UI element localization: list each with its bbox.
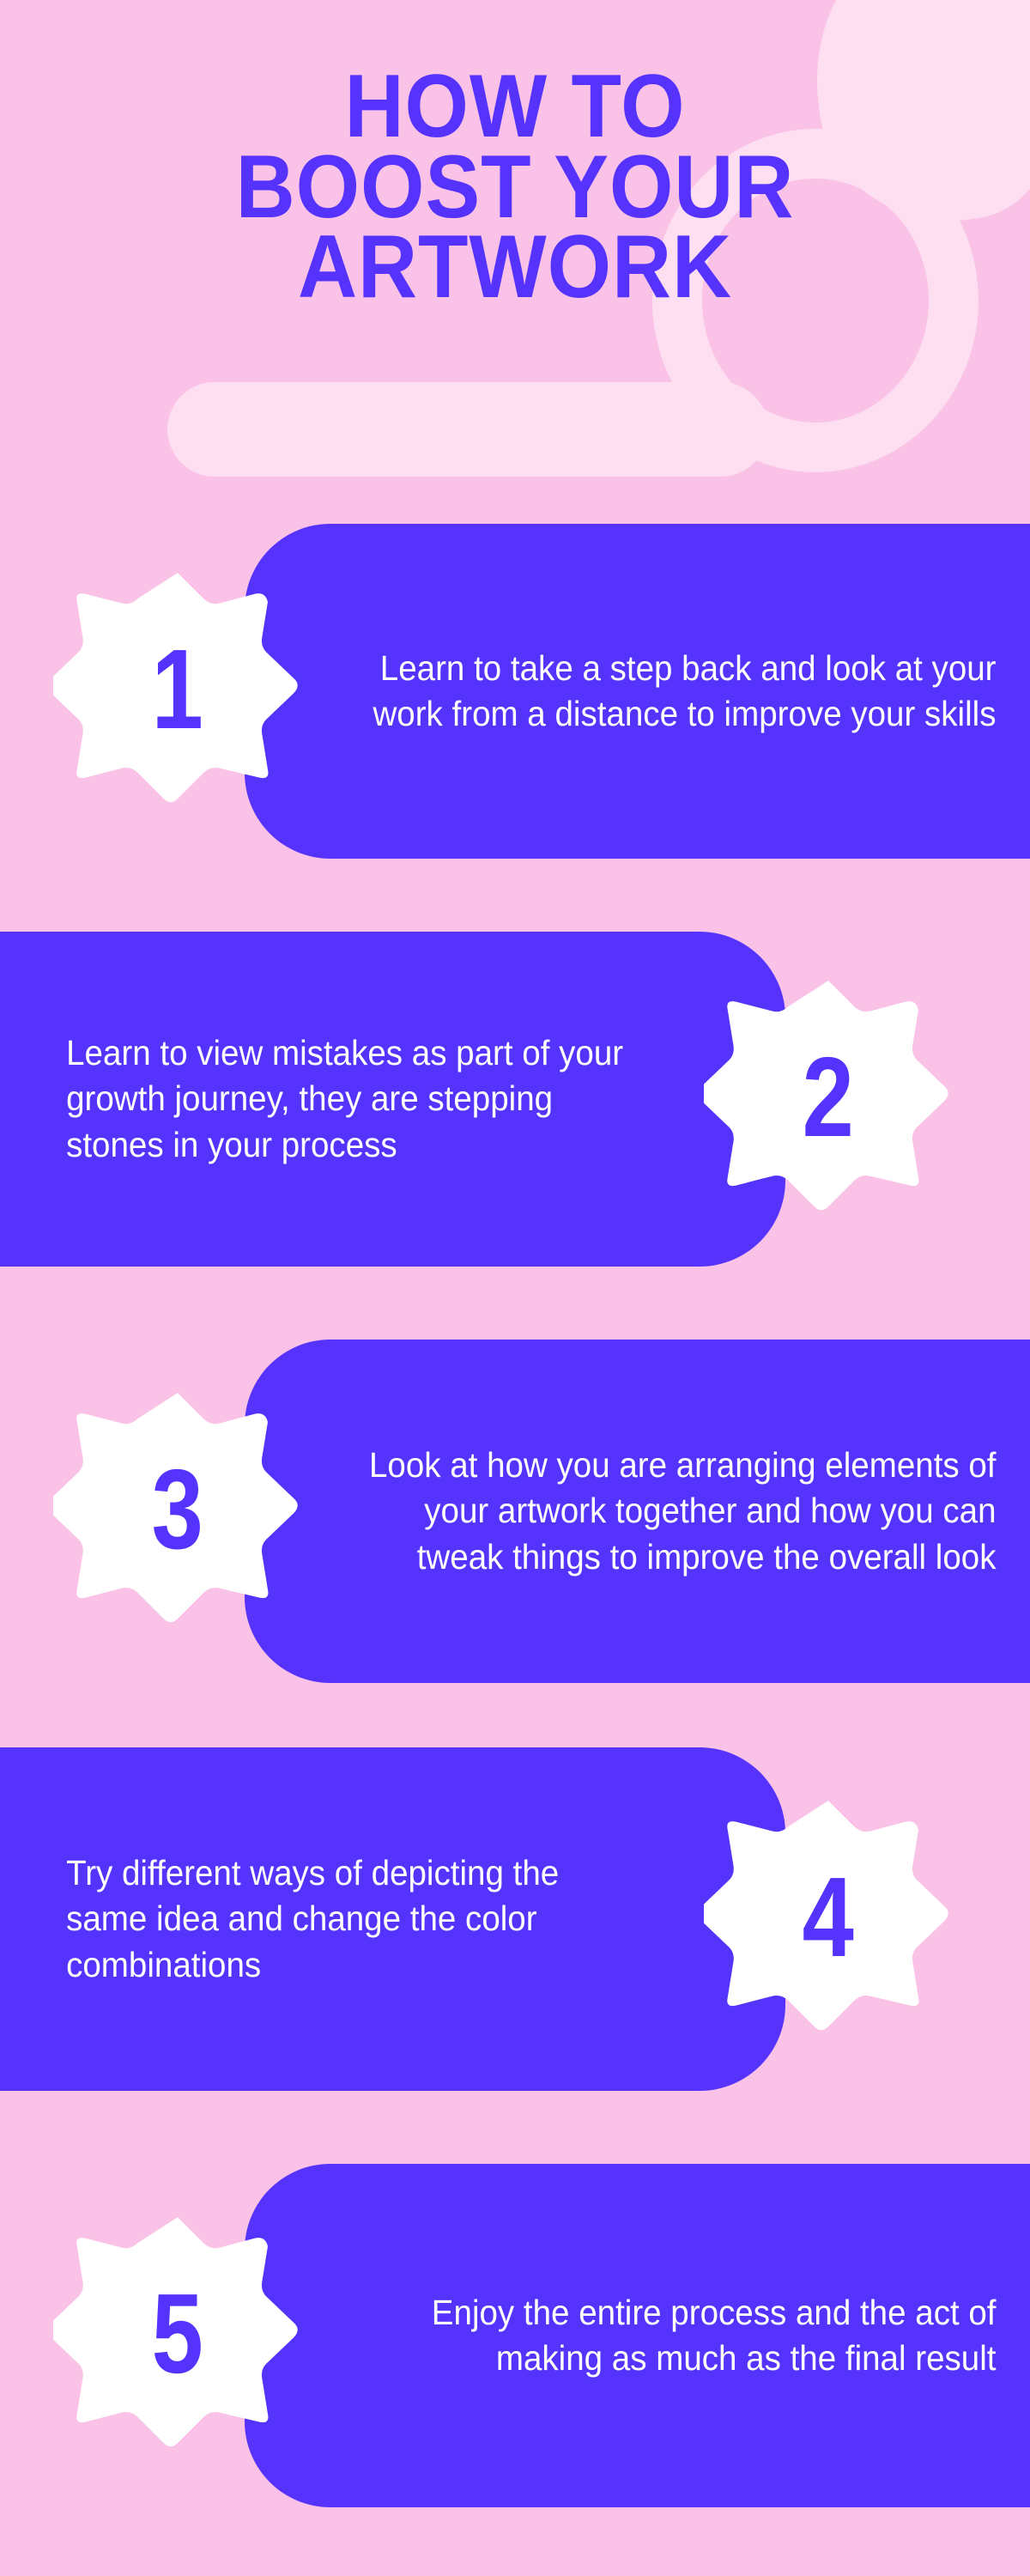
step-row-4: Try different ways of depicting the same… <box>0 1747 1030 2091</box>
step-row-1: 1 Learn to take a step back and look at … <box>0 524 1030 859</box>
step-number-3: 3 <box>152 1453 203 1566</box>
step-number-2: 2 <box>803 1041 854 1154</box>
step-badge-1: 1 <box>53 567 302 816</box>
decorative-bar-shape <box>167 382 768 477</box>
header: HOW TO BOOST YOUR ARTWORK <box>0 67 1030 308</box>
step-number-5: 5 <box>152 2277 203 2391</box>
step-badge-4: 4 <box>704 1795 953 2044</box>
step-row-5: 5 Enjoy the entire process and the act o… <box>0 2164 1030 2507</box>
step-number-4: 4 <box>803 1861 854 1974</box>
step-badge-3: 3 <box>53 1387 302 1636</box>
step-text-5: Enjoy the entire process and the act of … <box>346 2290 1030 2382</box>
infographic-canvas: HOW TO BOOST YOUR ARTWORK 1 Learn to tak… <box>0 0 1030 2576</box>
step-row-3: 3 Look at how you are arranging elements… <box>0 1340 1030 1683</box>
step-number-1: 1 <box>152 633 203 746</box>
step-badge-2: 2 <box>704 975 953 1224</box>
step-badge-5: 5 <box>53 2211 302 2460</box>
step-text-3: Look at how you are arranging elements o… <box>346 1443 1030 1580</box>
step-text-2: Learn to view mistakes as part of your g… <box>0 1030 662 1168</box>
step-row-2: Learn to view mistakes as part of your g… <box>0 932 1030 1267</box>
step-text-4: Try different ways of depicting the same… <box>0 1850 662 1988</box>
step-text-1: Learn to take a step back and look at yo… <box>346 646 1030 738</box>
page-title: HOW TO BOOST YOUR ARTWORK <box>41 67 989 308</box>
